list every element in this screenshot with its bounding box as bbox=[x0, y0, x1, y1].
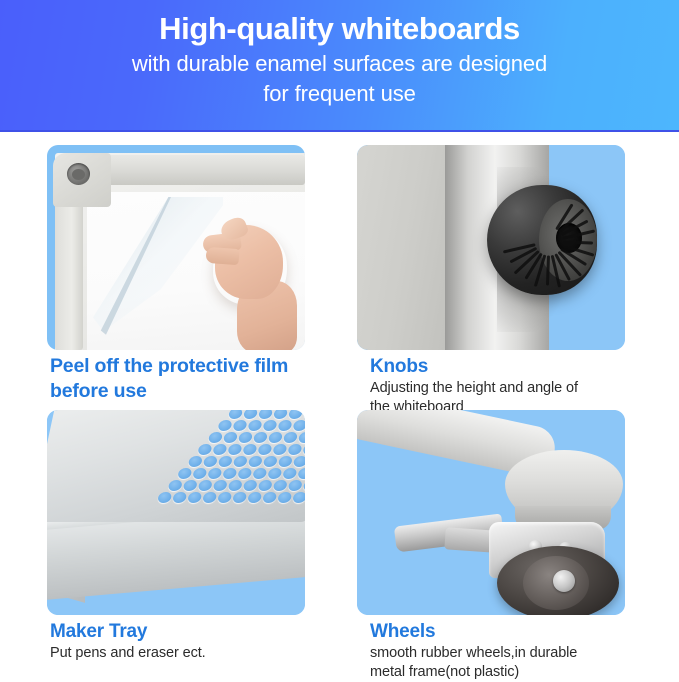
tray-hole bbox=[267, 468, 282, 479]
tray-hole bbox=[257, 410, 272, 419]
knob-rib bbox=[546, 255, 550, 285]
tray-hole bbox=[217, 492, 232, 503]
feature-panel-protective-film bbox=[47, 145, 305, 350]
photo-perforated-marker-tray bbox=[47, 410, 305, 615]
tray-hole bbox=[197, 480, 212, 491]
tray-hole bbox=[227, 444, 242, 455]
tray-hole bbox=[252, 432, 267, 443]
tray-hole bbox=[172, 492, 187, 503]
tray-hole bbox=[257, 480, 272, 491]
caption-title-maker-tray: Maker Tray bbox=[50, 619, 350, 644]
tray-hole bbox=[277, 492, 292, 503]
tray-hole bbox=[297, 432, 305, 443]
page-subtitle-line-1: with durable enamel surfaces are designe… bbox=[132, 49, 547, 79]
tray-hole bbox=[187, 492, 202, 503]
tray-hole bbox=[232, 492, 247, 503]
tray-hole bbox=[202, 456, 217, 467]
caption-desc-maker-tray: Put pens and eraser ect. bbox=[50, 644, 350, 663]
page-subtitle-line-2: for frequent use bbox=[263, 79, 416, 109]
tray-hole bbox=[272, 444, 287, 455]
tray-hole bbox=[232, 420, 247, 431]
tray-hole bbox=[267, 432, 282, 443]
tray-hole bbox=[262, 492, 277, 503]
caption-desc-knobs: Adjusting the height and angle of bbox=[370, 379, 660, 398]
tray-hole bbox=[242, 444, 257, 455]
tray-hole bbox=[277, 420, 292, 431]
caption-title-knobs: Knobs bbox=[370, 354, 660, 379]
tray-hole bbox=[212, 480, 227, 491]
feature-panel-knobs bbox=[357, 145, 625, 350]
caption-desc-wheels: smooth rubber wheels,in durable bbox=[370, 644, 670, 663]
tray-hole bbox=[287, 480, 302, 491]
caption-knobs: Knobs Adjusting the height and angle of … bbox=[370, 354, 660, 417]
tray-hole bbox=[227, 410, 242, 419]
tray-hole bbox=[207, 468, 222, 479]
caption-title-wheels: Wheels bbox=[370, 619, 670, 644]
tray-hole bbox=[197, 444, 212, 455]
tray-hole bbox=[217, 420, 232, 431]
tray-hole bbox=[277, 456, 292, 467]
tray-hole bbox=[272, 480, 287, 491]
tray-hole bbox=[302, 410, 305, 419]
tray-hole bbox=[292, 420, 305, 431]
caption-maker-tray: Maker Tray Put pens and eraser ect. bbox=[50, 619, 350, 663]
tray-hole bbox=[292, 456, 305, 467]
whiteboard-edge-panel bbox=[357, 145, 445, 350]
hand-finger-middle bbox=[205, 247, 239, 265]
tray-hole bbox=[282, 468, 297, 479]
tray-hole bbox=[237, 468, 252, 479]
tray-hole bbox=[252, 468, 267, 479]
tray-hole bbox=[262, 456, 277, 467]
photo-caster-wheel-with-brake bbox=[357, 410, 625, 615]
tray-hole bbox=[287, 444, 302, 455]
page-title: High-quality whiteboards bbox=[159, 9, 520, 49]
tray-hole bbox=[222, 432, 237, 443]
tray-hole bbox=[192, 468, 207, 479]
tray-hole bbox=[262, 420, 277, 431]
tray-hole bbox=[227, 480, 242, 491]
tray-hole bbox=[202, 492, 217, 503]
tray-hole bbox=[182, 480, 197, 491]
tray-hole bbox=[287, 410, 302, 419]
tray-hole bbox=[232, 456, 247, 467]
photo-black-adjustment-knob bbox=[357, 145, 625, 350]
tray-hole bbox=[282, 432, 297, 443]
tray-hole bbox=[222, 468, 237, 479]
tray-hole bbox=[242, 480, 257, 491]
knob-icon bbox=[487, 185, 597, 295]
feature-panel-maker-tray bbox=[47, 410, 305, 615]
feature-panel-wheels bbox=[357, 410, 625, 615]
tray-hole bbox=[207, 432, 222, 443]
caption-title-protective-film-line2: before use bbox=[50, 379, 350, 404]
tray-perforation-holes bbox=[131, 410, 305, 512]
caption-title-protective-film: Peel off the protective film bbox=[50, 354, 350, 379]
tray-hole bbox=[237, 432, 252, 443]
tray-hole bbox=[167, 480, 182, 491]
wheel-axle-bolt bbox=[553, 570, 575, 592]
header-banner: High-quality whiteboards with durable en… bbox=[0, 0, 679, 132]
tray-hole bbox=[212, 444, 227, 455]
tray-hole bbox=[247, 492, 262, 503]
mounting-hole-icon bbox=[67, 163, 90, 185]
caption-wheels: Wheels smooth rubber wheels,in durable m… bbox=[370, 619, 670, 682]
tray-hole bbox=[157, 492, 172, 503]
tray-hole bbox=[247, 456, 262, 467]
caption-desc-wheels-line2: metal frame(not plastic) bbox=[370, 663, 670, 682]
photo-whiteboard-corner-peeling-film bbox=[47, 145, 305, 350]
tray-hole bbox=[242, 410, 257, 419]
tray-hole bbox=[302, 480, 305, 491]
feature-grid: Peel off the protective film before use … bbox=[0, 132, 679, 674]
tray-hole bbox=[302, 444, 305, 455]
tray-hole bbox=[247, 420, 262, 431]
tray-hole bbox=[272, 410, 287, 419]
tray-hole bbox=[292, 492, 305, 503]
tray-hole bbox=[257, 444, 272, 455]
hand-illustration bbox=[197, 207, 305, 350]
caption-protective-film: Peel off the protective film before use bbox=[50, 354, 350, 404]
tray-hole bbox=[217, 456, 232, 467]
tray-hole bbox=[177, 468, 192, 479]
tray-hole bbox=[187, 456, 202, 467]
tray-hole bbox=[297, 468, 305, 479]
